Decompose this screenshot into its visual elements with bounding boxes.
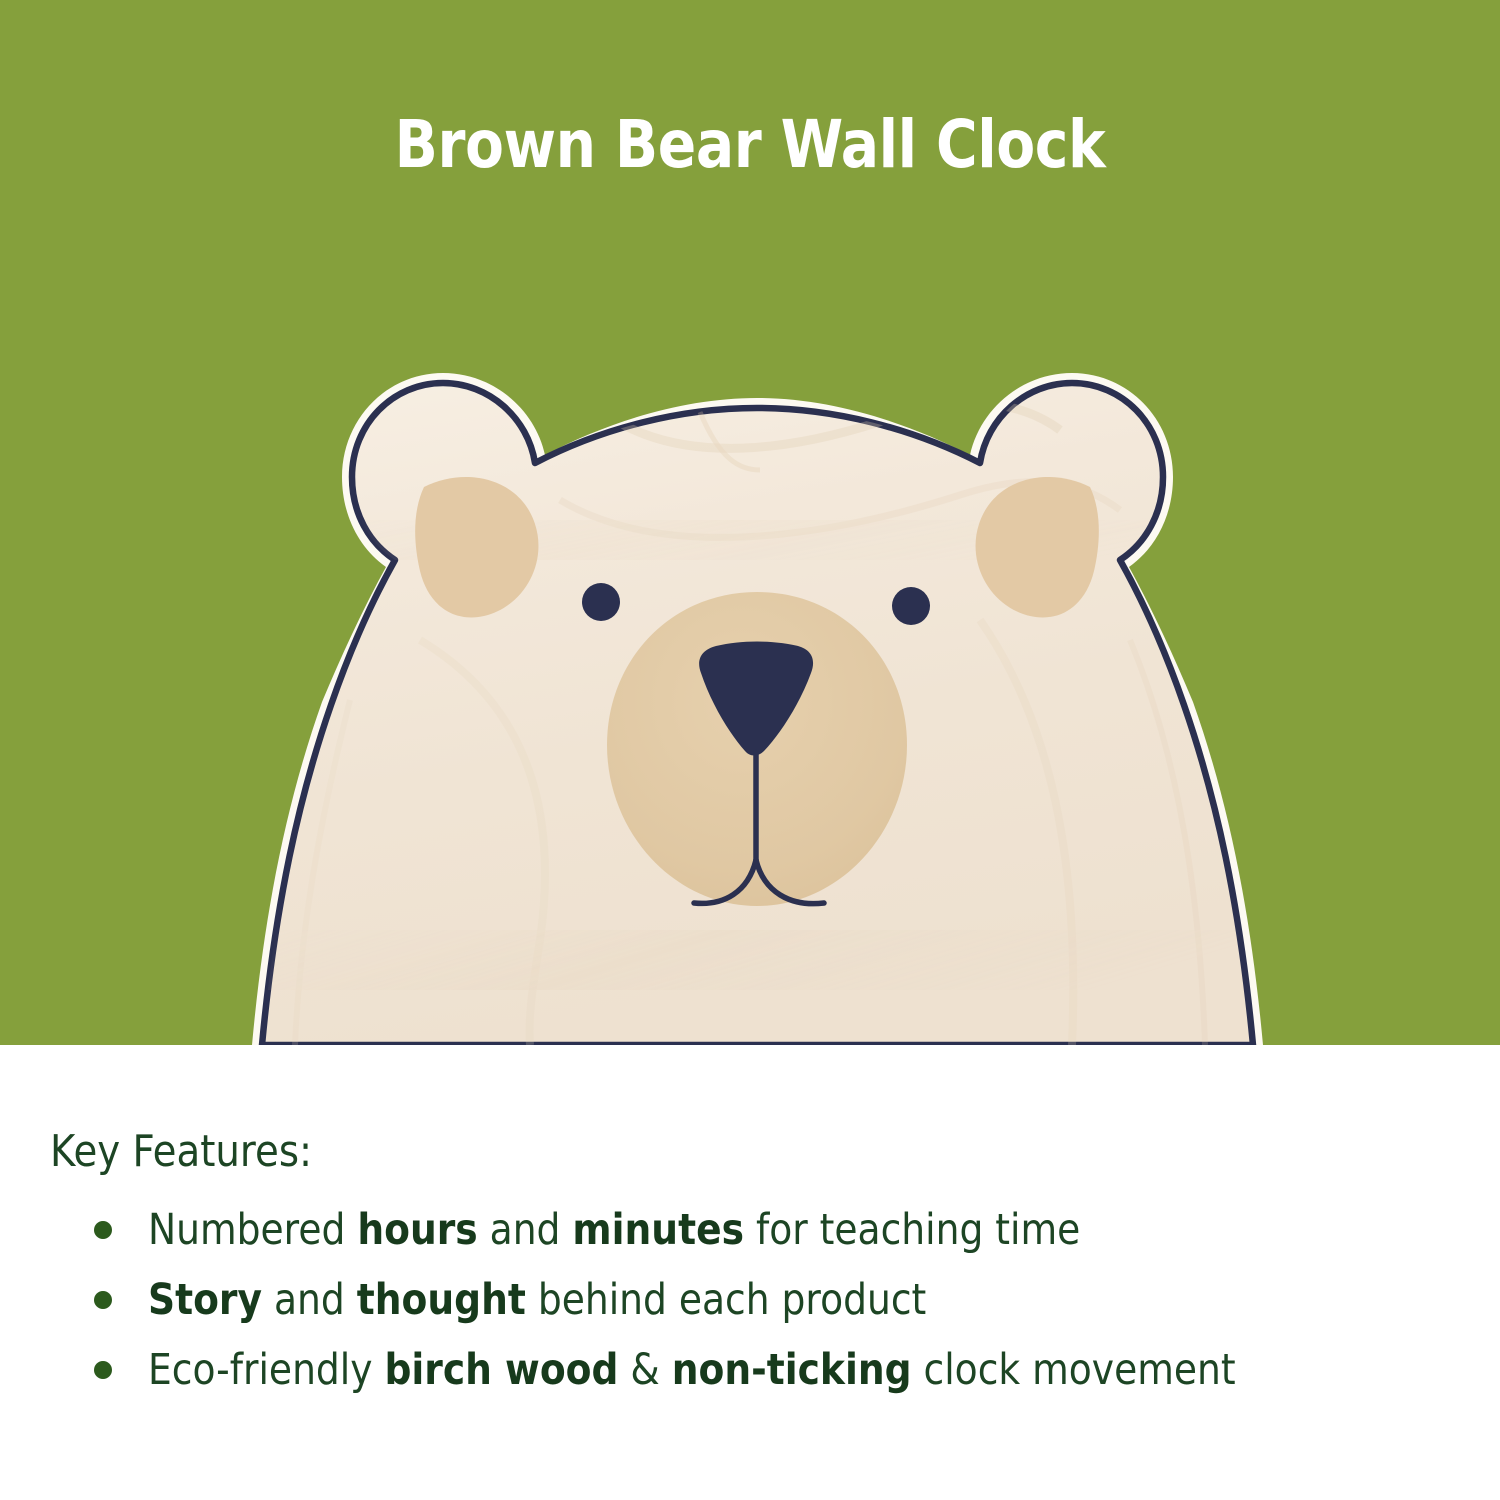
list-item-label: Eco-friendly birch wood & non-ticking cl… [148, 1349, 1236, 1392]
features-panel: Key Features: Numbered hours and minutes… [0, 1045, 1500, 1500]
right-eye-icon [892, 587, 930, 625]
features-heading: Key Features: [50, 1126, 312, 1177]
left-eye-icon [582, 583, 620, 621]
bear-clock-svg [0, 0, 1500, 1045]
list-item: Eco-friendly birch wood & non-ticking cl… [80, 1335, 1480, 1405]
bullet-dot-icon [94, 1221, 112, 1239]
list-item-label: Numbered hours and minutes for teaching … [148, 1209, 1080, 1252]
list-item-label: Story and thought behind each product [148, 1279, 926, 1322]
hero-panel: Brown Bear Wall Clock [0, 0, 1500, 1045]
bear-illustration [0, 0, 1500, 1045]
bullet-dot-icon [94, 1291, 112, 1309]
list-item: Numbered hours and minutes for teaching … [80, 1195, 1480, 1265]
list-item: Story and thought behind each product [80, 1265, 1480, 1335]
bullet-dot-icon [94, 1361, 112, 1379]
features-list: Numbered hours and minutes for teaching … [80, 1195, 1480, 1405]
product-infographic: Brown Bear Wall Clock [0, 0, 1500, 1500]
